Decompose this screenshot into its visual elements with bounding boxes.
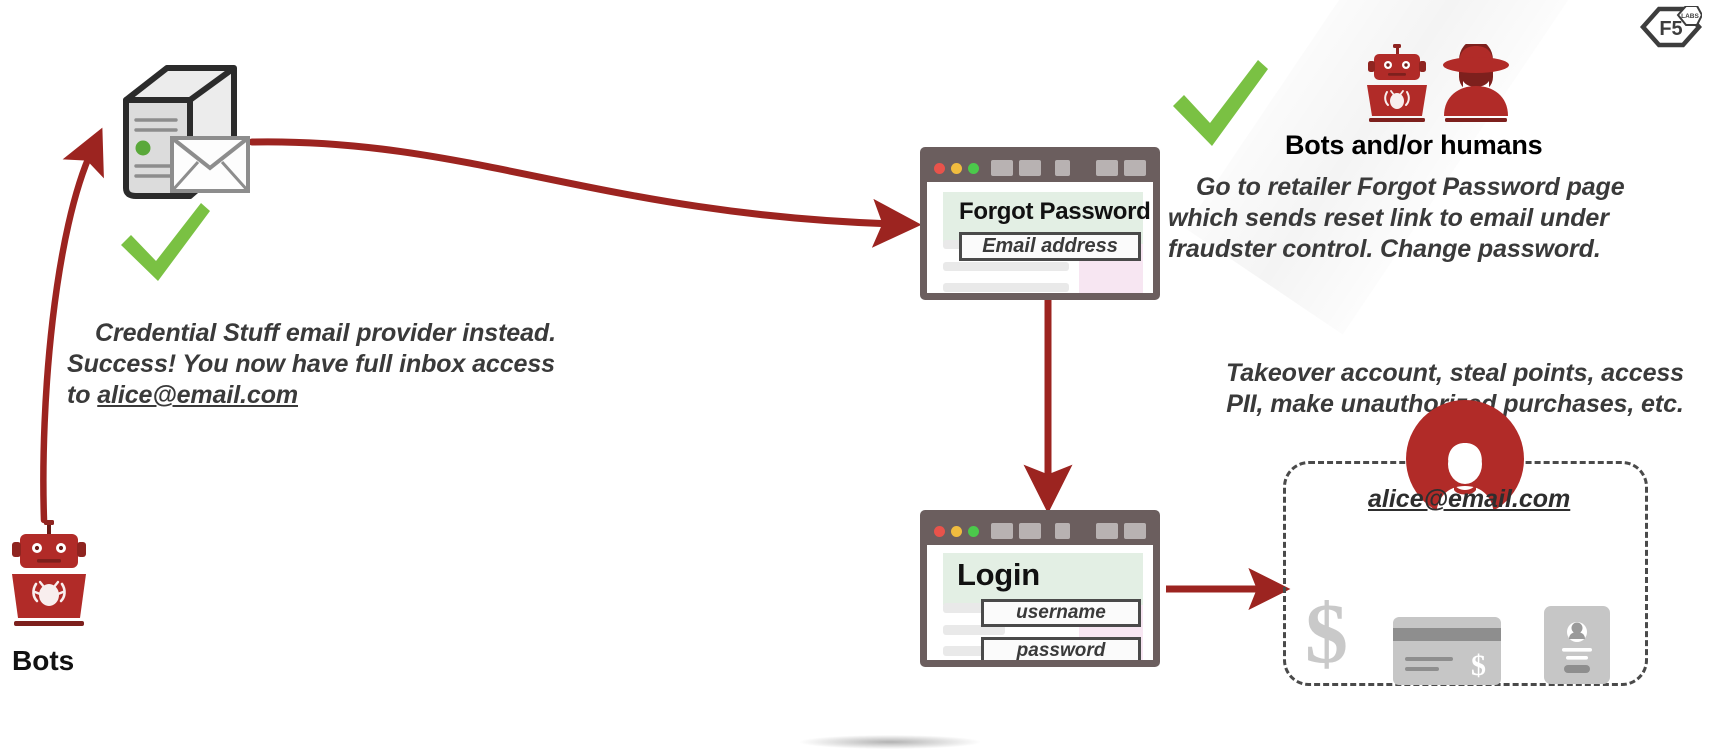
address-bar-chip[interactable]: [1055, 523, 1070, 539]
browser-titlebar: [927, 154, 1153, 182]
toolbar-chip-1[interactable]: [1096, 523, 1118, 539]
bots-label: Bots: [12, 645, 94, 677]
right-note-line-2: which sends reset link to email under: [1168, 203, 1668, 234]
left-note-line-3-prefix: to: [67, 381, 97, 409]
password-input-placeholder: password: [1017, 640, 1106, 660]
green-check-icon-left: [115, 195, 215, 290]
bots-group: Bots: [6, 520, 94, 677]
left-note-line-1: Credential Stuff email provider instead.: [67, 318, 627, 349]
diagram-canvas: Bots Credential Stuff email pro: [0, 0, 1709, 755]
back-button-chip[interactable]: [991, 523, 1013, 539]
window-close-dot[interactable]: [934, 526, 945, 537]
window-minimize-dot[interactable]: [951, 526, 962, 537]
outcome-note-line-1: Takeover account, steal points, access: [1205, 358, 1705, 389]
password-input[interactable]: password: [981, 637, 1141, 660]
left-note-line-2: Success! You now have full inbox access: [67, 349, 627, 380]
toolbar-chip-2[interactable]: [1124, 160, 1146, 176]
fraudster-hat-icon: [1443, 44, 1509, 122]
login-title: Login: [957, 557, 1040, 593]
dollar-sign-icon: $: [1305, 590, 1348, 676]
login-browser-window[interactable]: Login username password: [920, 510, 1160, 667]
window-close-dot[interactable]: [934, 163, 945, 174]
window-maximize-dot[interactable]: [968, 163, 979, 174]
actors-heading: Bots and/or humans: [1285, 130, 1542, 161]
f5-labs-logo-icon[interactable]: F5 LABS: [1638, 6, 1702, 68]
left-note-line-3: to alice@email.com: [67, 380, 627, 411]
svg-text:$: $: [1471, 649, 1486, 682]
window-minimize-dot[interactable]: [951, 163, 962, 174]
email-address-input-placeholder: Email address: [982, 235, 1118, 258]
green-check-icon-right: [1168, 54, 1273, 154]
address-bar-chip[interactable]: [1055, 160, 1070, 176]
arrow-mail-server-to-forgot-password: [252, 142, 895, 224]
right-note: Go to retailer Forgot Password page whic…: [1168, 172, 1668, 265]
credit-card-icon: $: [1393, 617, 1501, 685]
back-button-chip[interactable]: [991, 160, 1013, 176]
right-note-line-1: Go to retailer Forgot Password page: [1168, 172, 1668, 203]
toolbar-chip-1[interactable]: [1096, 160, 1118, 176]
content-line-2: [943, 262, 1069, 271]
window-maximize-dot[interactable]: [968, 526, 979, 537]
forgot-password-browser-window[interactable]: Forgot Password Email address: [920, 147, 1160, 300]
browser-content: Login username password: [927, 545, 1153, 660]
username-input-placeholder: username: [1016, 602, 1106, 624]
forward-button-chip[interactable]: [1019, 160, 1041, 176]
mail-server-group: [110, 62, 255, 207]
email-address-input[interactable]: Email address: [959, 232, 1141, 261]
id-card-icon: [1544, 606, 1610, 684]
f5-logo-text: F5: [1659, 18, 1682, 40]
actors-group: [1357, 44, 1527, 127]
forgot-password-title: Forgot Password: [959, 198, 1151, 226]
content-line-3: [943, 283, 1069, 292]
mail-server-icon: [110, 62, 255, 202]
labs-logo-text: LABS: [1681, 13, 1699, 20]
left-note: Credential Stuff email provider instead.…: [67, 318, 627, 411]
username-input[interactable]: username: [981, 599, 1141, 627]
right-note-line-3: fraudster control. Change password.: [1168, 234, 1668, 265]
browser-content: Forgot Password Email address: [927, 182, 1153, 293]
browser-titlebar: [927, 517, 1153, 545]
email-link[interactable]: alice@email.com: [97, 381, 298, 409]
account-email[interactable]: alice@email.com: [1368, 485, 1570, 514]
bot-icon: [1367, 44, 1427, 122]
toolbar-chip-2[interactable]: [1124, 523, 1146, 539]
bot-icon: [6, 520, 94, 630]
forward-button-chip[interactable]: [1019, 523, 1041, 539]
